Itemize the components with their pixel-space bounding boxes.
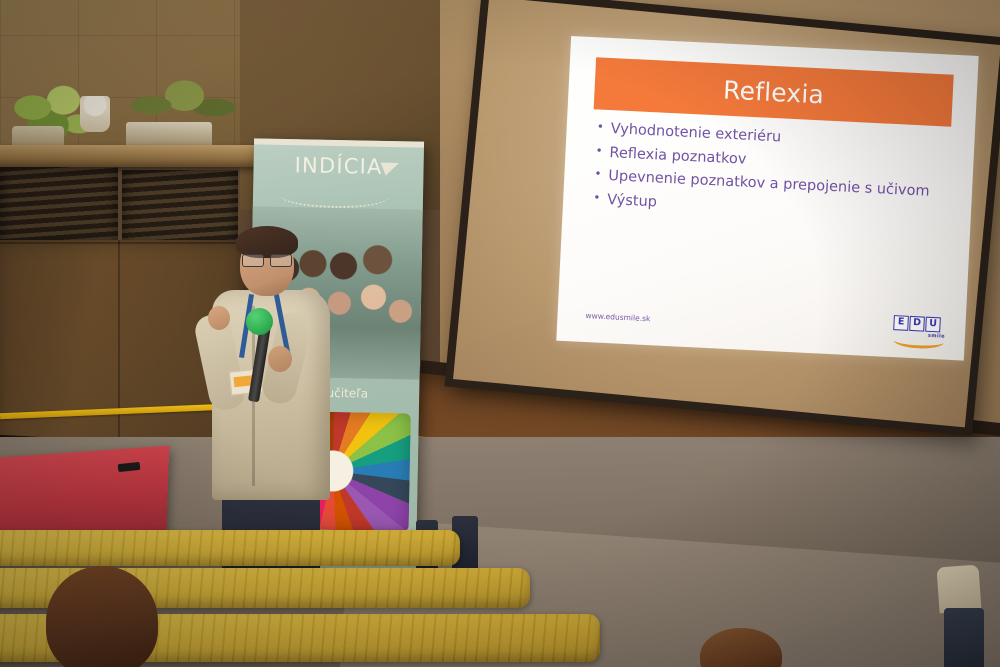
projection-screen-frame: Reflexia Vyhodnotenie exteriéru Reflexia… <box>444 0 1000 436</box>
banner-swoosh-icon <box>279 183 389 209</box>
microphone-head-icon <box>246 308 273 335</box>
slide-title-bar: Reflexia <box>594 57 954 126</box>
edu-logo-swoosh-icon <box>893 333 944 349</box>
photograph-scene: Reflexia Vyhodnotenie exteriéru Reflexia… <box>0 0 1000 667</box>
presentation-slide: Reflexia Vyhodnotenie exteriéru Reflexia… <box>556 36 978 361</box>
presenter-hand-right <box>268 346 292 372</box>
standing-person-trousers <box>944 608 984 667</box>
slide-title: Reflexia <box>723 75 825 109</box>
audience-member-head <box>46 566 158 667</box>
edusmile-logo: E D U smile <box>892 315 948 352</box>
projection-screen-surface: Reflexia Vyhodnotenie exteriéru Reflexia… <box>453 0 1000 427</box>
edu-logo-letter: E <box>893 315 909 331</box>
edu-logo-letter: D <box>909 316 925 332</box>
wall-vent-grille <box>0 167 118 245</box>
standing-person-shirt <box>936 565 981 614</box>
edu-logo-letters: E D U <box>893 315 948 333</box>
auditorium-seat-row <box>0 530 460 566</box>
edu-logo-letter: U <box>925 317 941 333</box>
standing-person-right <box>932 566 998 667</box>
slide-bullet-list: Vyhodnotenie exteriéru Reflexia poznatko… <box>590 121 962 233</box>
flower-vase <box>80 96 110 132</box>
presenter <box>196 228 346 568</box>
glasses-icon <box>242 254 294 265</box>
slide-footer-url: www.edusmile.sk <box>585 311 650 323</box>
wall-ledge <box>0 145 260 167</box>
presenter-hand-left <box>208 306 230 330</box>
